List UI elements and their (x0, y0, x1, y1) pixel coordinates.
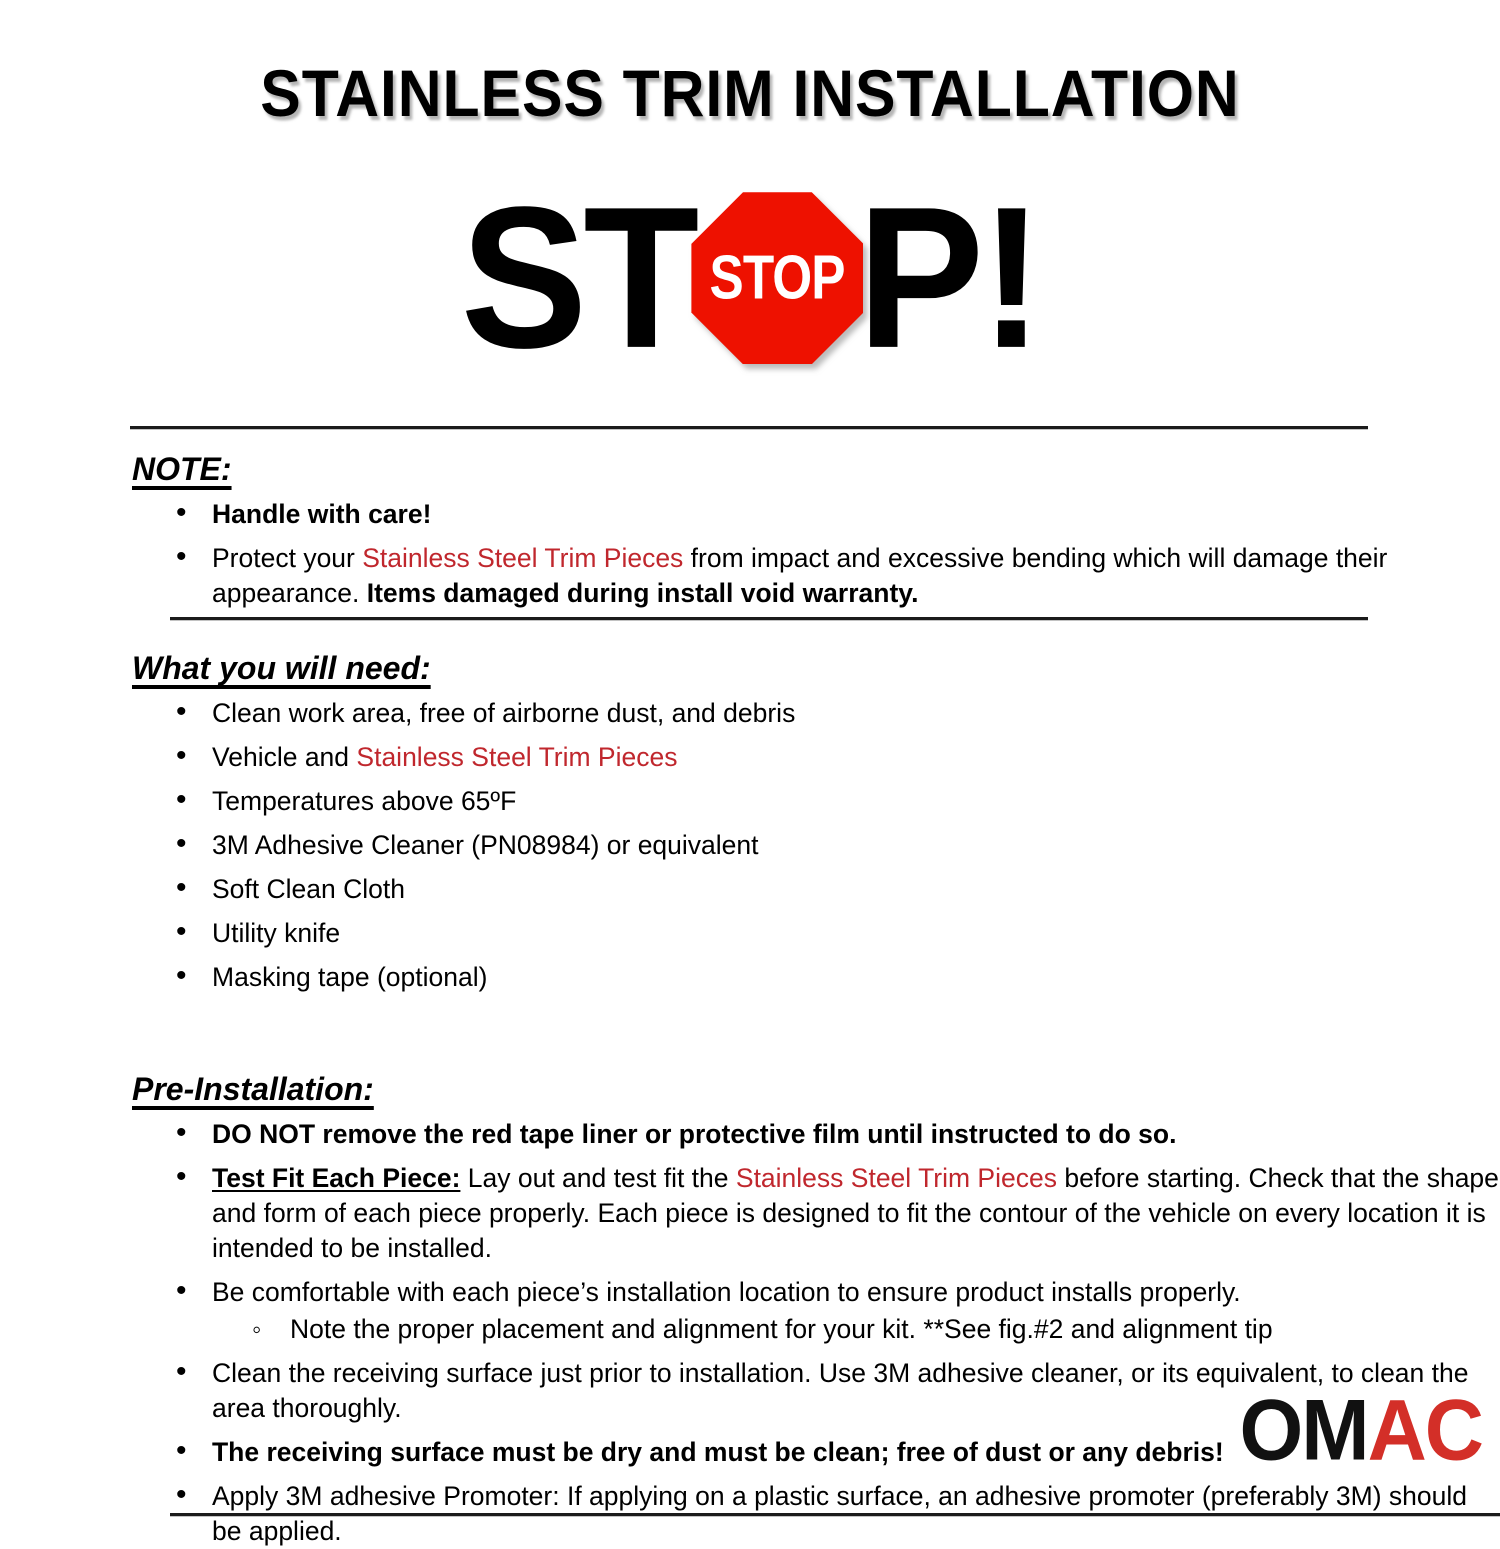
text-run: Handle with care! (212, 499, 431, 529)
stop-letters-right: P! (857, 178, 1039, 379)
list-item: Temperatures above 65ºF (0, 784, 1500, 819)
list-item: Protect your Stainless Steel Trim Pieces… (0, 541, 1500, 611)
text-run: Test Fit Each Piece: (212, 1163, 460, 1193)
stop-letters-left: ST (461, 178, 696, 379)
divider-note (170, 617, 1368, 620)
text-run: Soft Clean Cloth (212, 874, 405, 904)
sub-list-item: Note the proper placement and alignment … (0, 1312, 1500, 1347)
sub-list: Note the proper placement and alignment … (0, 1312, 1500, 1347)
text-run: Be comfortable with each piece’s install… (212, 1277, 1241, 1307)
page-title: STAINLESS TRIM INSTALLATION (60, 44, 1440, 126)
text-run: Note the proper placement and alignment … (290, 1314, 1273, 1344)
text-run: Temperatures above 65ºF (212, 786, 516, 816)
stop-banner-graphic: ST STOP P! (0, 178, 1500, 378)
text-run: Masking tape (optional) (212, 962, 487, 992)
omac-logo: OMAC (1239, 1388, 1482, 1474)
divider-bottom (170, 1513, 1500, 1516)
list-item: 3M Adhesive Cleaner (PN08984) or equival… (0, 828, 1500, 863)
text-run: DO NOT remove the red tape liner or prot… (212, 1119, 1176, 1149)
list-item: Utility knife (0, 916, 1500, 951)
footer-divider-wrap (0, 1513, 1500, 1516)
text-run: Utility knife (212, 918, 340, 948)
list-item: Be comfortable with each piece’s install… (0, 1275, 1500, 1310)
text-run: The receiving surface must be dry and mu… (212, 1437, 1224, 1467)
list-item: Test Fit Each Piece: Lay out and test fi… (0, 1161, 1500, 1266)
list-item: Soft Clean Cloth (0, 872, 1500, 907)
text-run: 3M Adhesive Cleaner (PN08984) or equival… (212, 830, 759, 860)
pre-installation-heading: Pre-Installation: (132, 1071, 374, 1108)
omac-logo-accent: AC (1368, 1383, 1482, 1479)
text-run: Stainless Steel Trim Pieces (736, 1163, 1057, 1193)
text-run: Clean work area, free of airborne dust, … (212, 698, 795, 728)
pre-installation-list: DO NOT remove the red tape liner or prot… (0, 1117, 1500, 1549)
list-item: Masking tape (optional) (0, 960, 1500, 995)
needs-section: What you will need: Clean work area, fre… (0, 650, 1500, 995)
text-run: Protect your (212, 543, 362, 573)
list-item: Clean work area, free of airborne dust, … (0, 696, 1500, 731)
list-item: DO NOT remove the red tape liner or prot… (0, 1117, 1500, 1152)
text-run: Stainless Steel Trim Pieces (356, 742, 677, 772)
note-list: Handle with care!Protect your Stainless … (0, 497, 1500, 611)
stop-octagon-shape: STOP (691, 192, 863, 364)
omac-logo-dark: OM (1239, 1383, 1367, 1479)
text-run: Items damaged during install void warran… (367, 578, 919, 608)
needs-heading: What you will need: (132, 650, 431, 687)
note-heading: NOTE: (132, 451, 232, 488)
list-item: Vehicle and Stainless Steel Trim Pieces (0, 740, 1500, 775)
stop-sign-label: STOP (710, 247, 845, 309)
needs-list: Clean work area, free of airborne dust, … (0, 696, 1500, 995)
text-run: Vehicle and (212, 742, 356, 772)
list-item: Handle with care! (0, 497, 1500, 532)
stop-sign-icon: STOP (691, 192, 863, 364)
note-section: NOTE: Handle with care!Protect your Stai… (0, 451, 1500, 611)
text-run: Lay out and test fit the (460, 1163, 735, 1193)
divider-top (130, 426, 1368, 429)
text-run: Stainless Steel Trim Pieces (362, 543, 683, 573)
